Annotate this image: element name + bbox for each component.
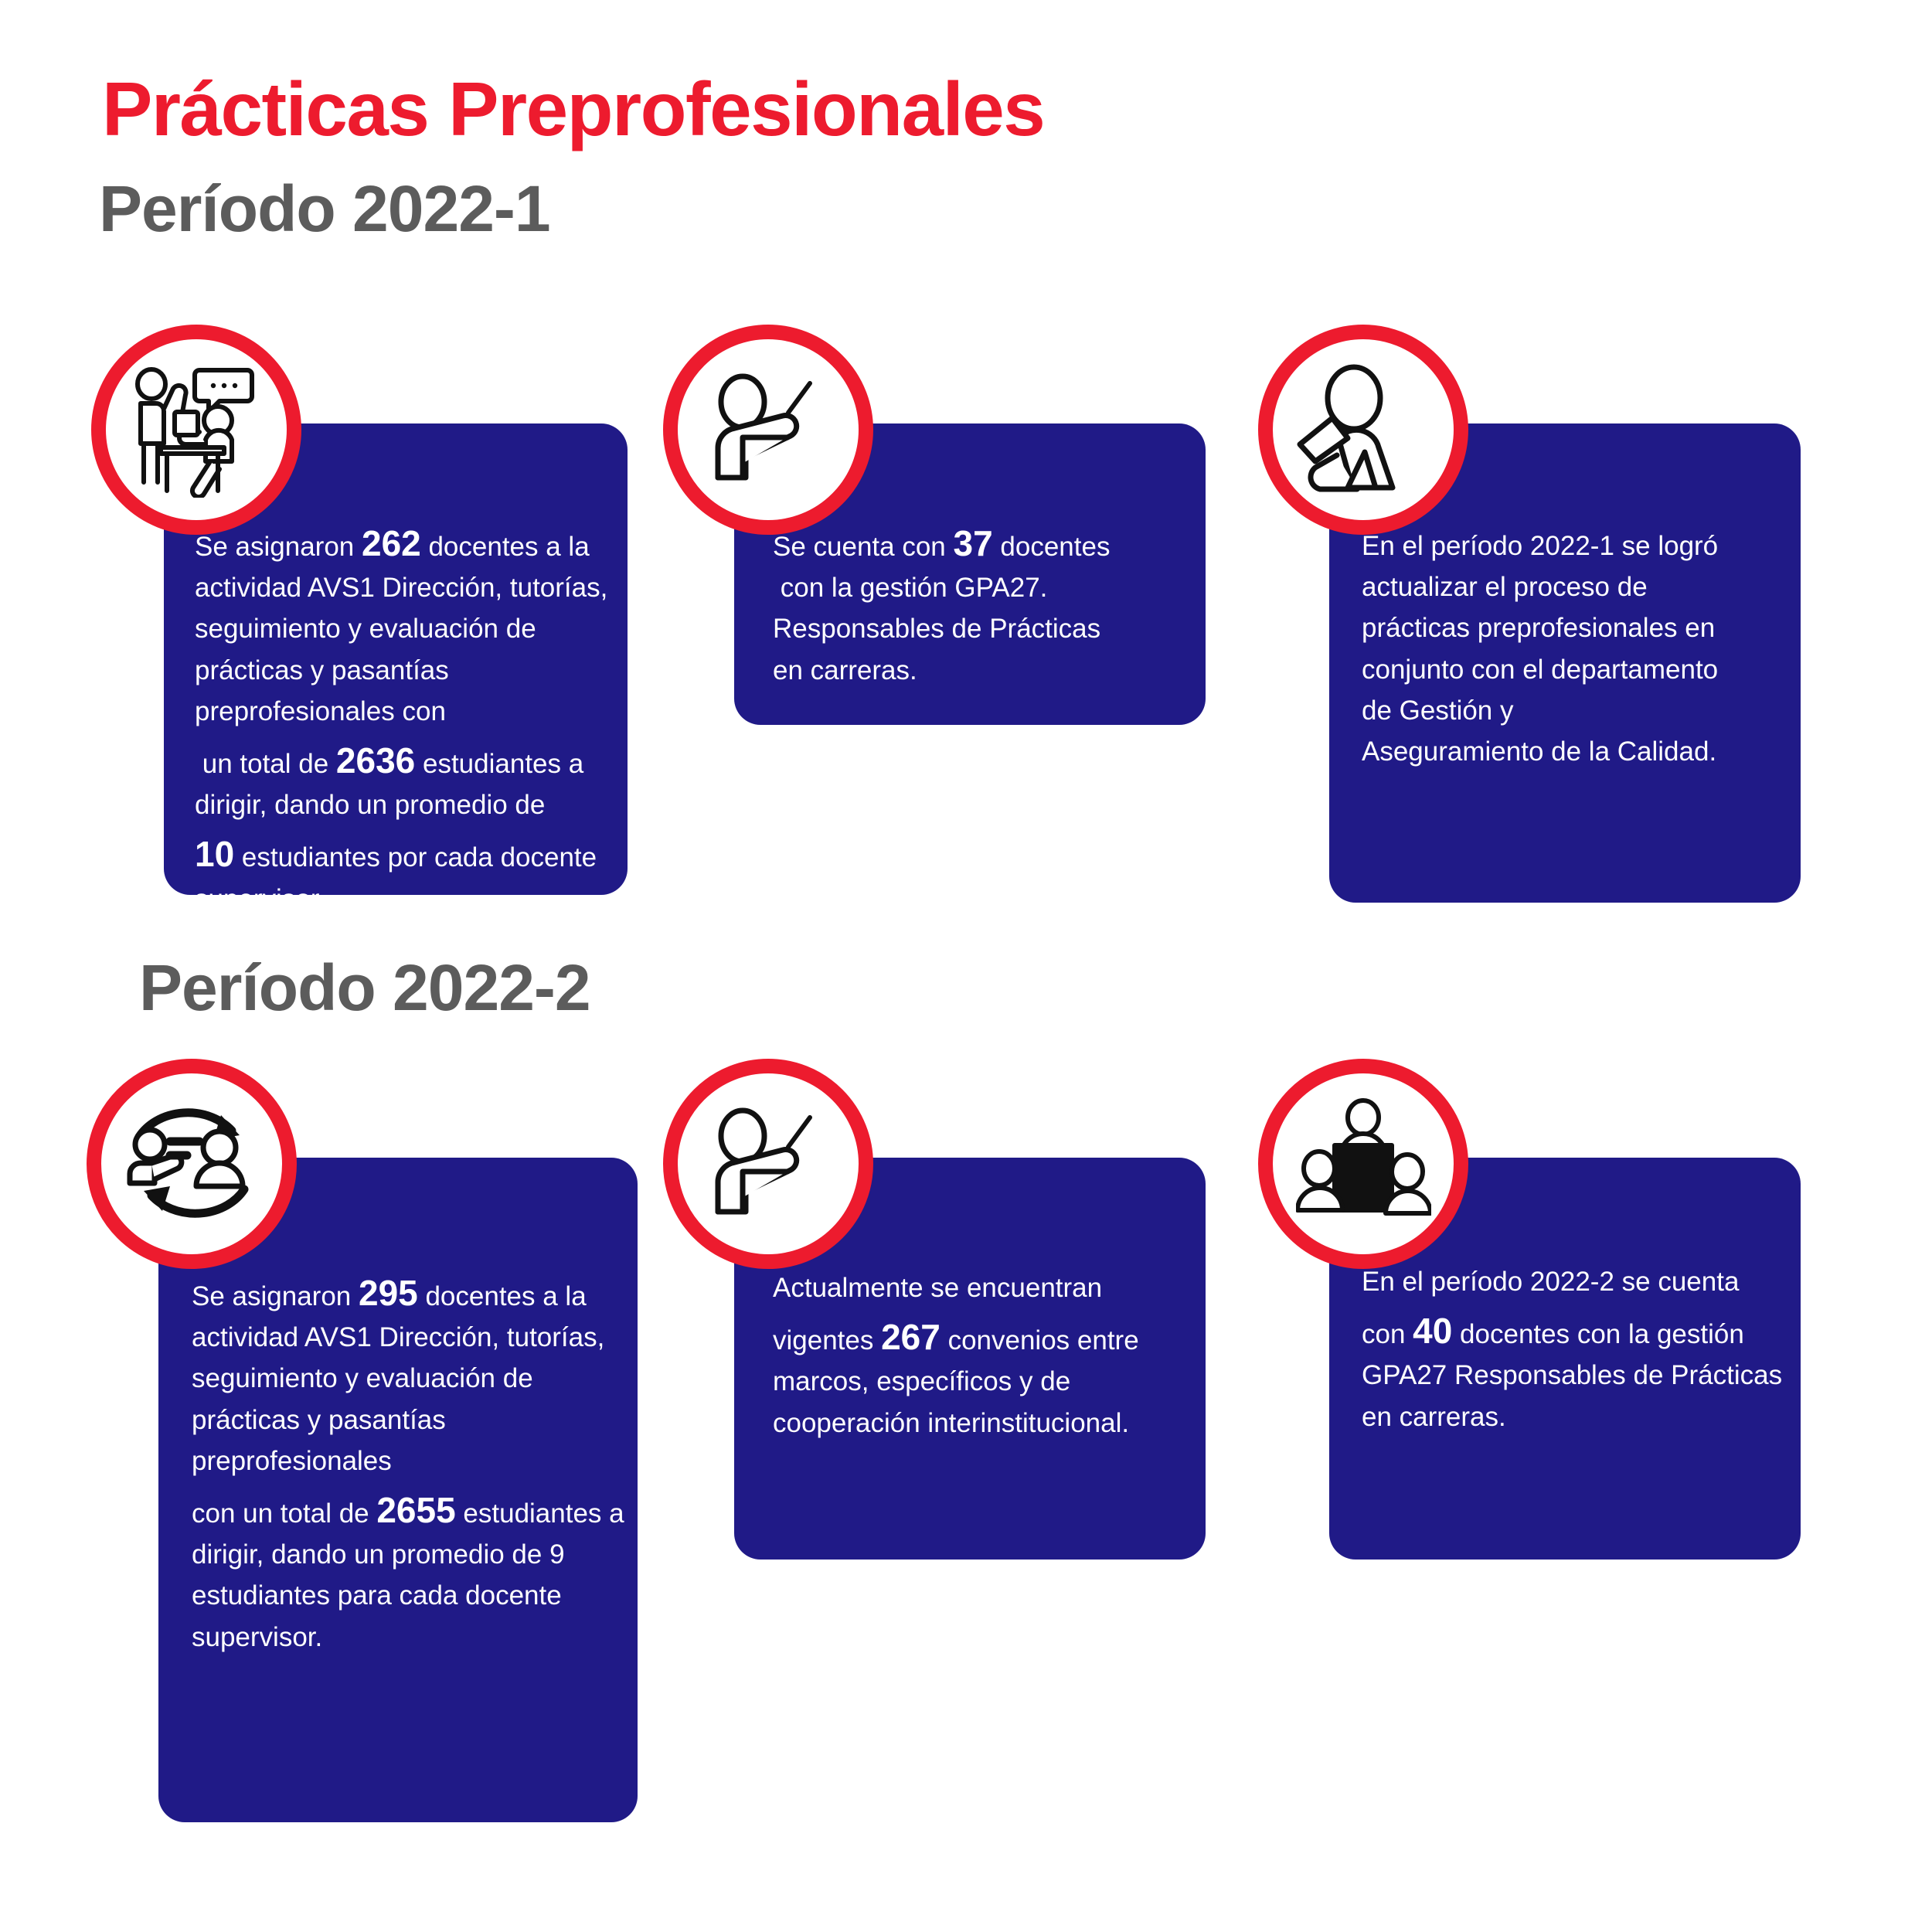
stat-value: 10 — [195, 834, 234, 874]
card-paragraph: un total de 2636 estudiantes a dirigir, … — [195, 743, 616, 825]
section-heading-period-2022-2: Período 2022-2 — [139, 951, 590, 1026]
meeting-presentation-icon — [1296, 1097, 1431, 1230]
teacher-pointer-icon-badge — [663, 325, 873, 535]
info-card-text: Se asignaron 295 docentes a la actividad… — [192, 1275, 624, 1658]
info-card-text: En el período 2022-2 se cuenta con 40 do… — [1362, 1261, 1806, 1437]
card-paragraph: En el período 2022-2 se cuenta — [1362, 1261, 1806, 1302]
card-paragraph: 10 estudiantes por cada docente supervis… — [195, 836, 616, 919]
exchange-arrows-people-icon-badge — [87, 1059, 297, 1269]
card-paragraph: Se asignaron 295 docentes a la actividad… — [192, 1275, 624, 1481]
teacher-desk-discussion-icon-badge — [91, 325, 301, 535]
teacher-pointer-icon — [701, 368, 836, 492]
card-paragraph: Actualmente se encuentran — [773, 1267, 1206, 1308]
page-title: Prácticas Preprofesionales — [102, 66, 1044, 153]
stat-value: 262 — [362, 523, 421, 563]
card-paragraph: Se asignaron 262 docentes a la actividad… — [195, 526, 616, 732]
card-paragraph: vigentes 267 convenios entre marcos, esp… — [773, 1319, 1206, 1444]
info-card-text: Se asignaron 262 docentes a la actividad… — [195, 526, 616, 920]
stat-value: 267 — [881, 1317, 940, 1357]
stat-value: 295 — [359, 1273, 418, 1313]
teacher-pointer-icon-badge — [663, 1059, 873, 1269]
stat-value: 40 — [1413, 1311, 1452, 1351]
card-paragraph: con un total de 2655 estudiantes a dirig… — [192, 1492, 624, 1658]
card-paragraph: con 40 docentes con la gestión GPA27 Res… — [1362, 1313, 1806, 1437]
info-card-text: Se cuenta con 37 docentes con la gestión… — [773, 526, 1206, 691]
teacher-desk-discussion-icon — [125, 362, 268, 498]
info-card-text: En el período 2022-1 se logróactualizar … — [1362, 526, 1802, 772]
info-card-text: Actualmente se encuentran vigentes 267 c… — [773, 1267, 1206, 1444]
person-reading-document-icon-badge — [1258, 325, 1468, 535]
meeting-presentation-icon-badge — [1258, 1059, 1468, 1269]
stat-value: 2655 — [376, 1490, 455, 1530]
stat-value: 2636 — [336, 740, 415, 781]
exchange-arrows-people-icon — [122, 1097, 261, 1232]
stat-value: 37 — [954, 523, 993, 563]
person-reading-document-icon — [1294, 364, 1433, 495]
section-heading-period-2022-1: Período 2022-1 — [99, 172, 550, 247]
card-paragraph: Se cuenta con 37 docentes con la gestión… — [773, 526, 1206, 691]
teacher-pointer-icon — [701, 1102, 836, 1226]
card-paragraph: En el período 2022-1 se logróactualizar … — [1362, 526, 1802, 772]
